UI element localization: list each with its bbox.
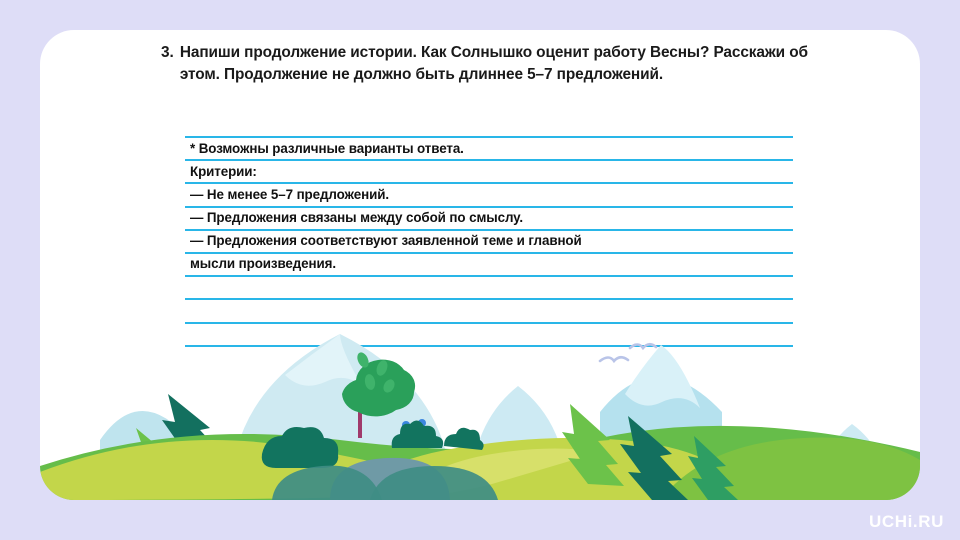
answer-text-line: — Предложения связаны между собой по смы… <box>190 207 790 230</box>
birds <box>600 344 656 361</box>
bush-far-right <box>444 428 484 450</box>
answer-text-line: Критерии: <box>190 161 790 184</box>
spring-landscape-illustration <box>40 320 920 500</box>
task-heading: 3. Напиши продолжение истории. Как Солны… <box>161 42 821 86</box>
bird-upper <box>630 344 656 348</box>
answer-area[interactable]: * Возможны различные варианты ответа.Кри… <box>185 127 793 349</box>
answer-text-line: * Возможны различные варианты ответа. <box>190 138 790 161</box>
task-text: Напиши продолжение истории. Как Солнышко… <box>180 42 821 86</box>
answer-text-line: — Предложения соответствуют заявленной т… <box>190 230 790 253</box>
slide: 3. Напиши продолжение истории. Как Солны… <box>0 0 960 540</box>
answer-text: * Возможны различные варианты ответа.Кри… <box>190 138 790 276</box>
task-number: 3. <box>161 42 180 64</box>
uchi-ru-logo: UCHi.RU <box>869 512 944 532</box>
answer-text-line: — Не менее 5–7 предложений. <box>190 184 790 207</box>
bird-lower <box>600 357 628 361</box>
content-card: 3. Напиши продолжение истории. Как Солны… <box>40 30 920 500</box>
mountain-right-cap <box>625 345 700 408</box>
answer-rule-line <box>185 298 793 300</box>
answer-text-line: мысли произведения. <box>190 253 790 276</box>
